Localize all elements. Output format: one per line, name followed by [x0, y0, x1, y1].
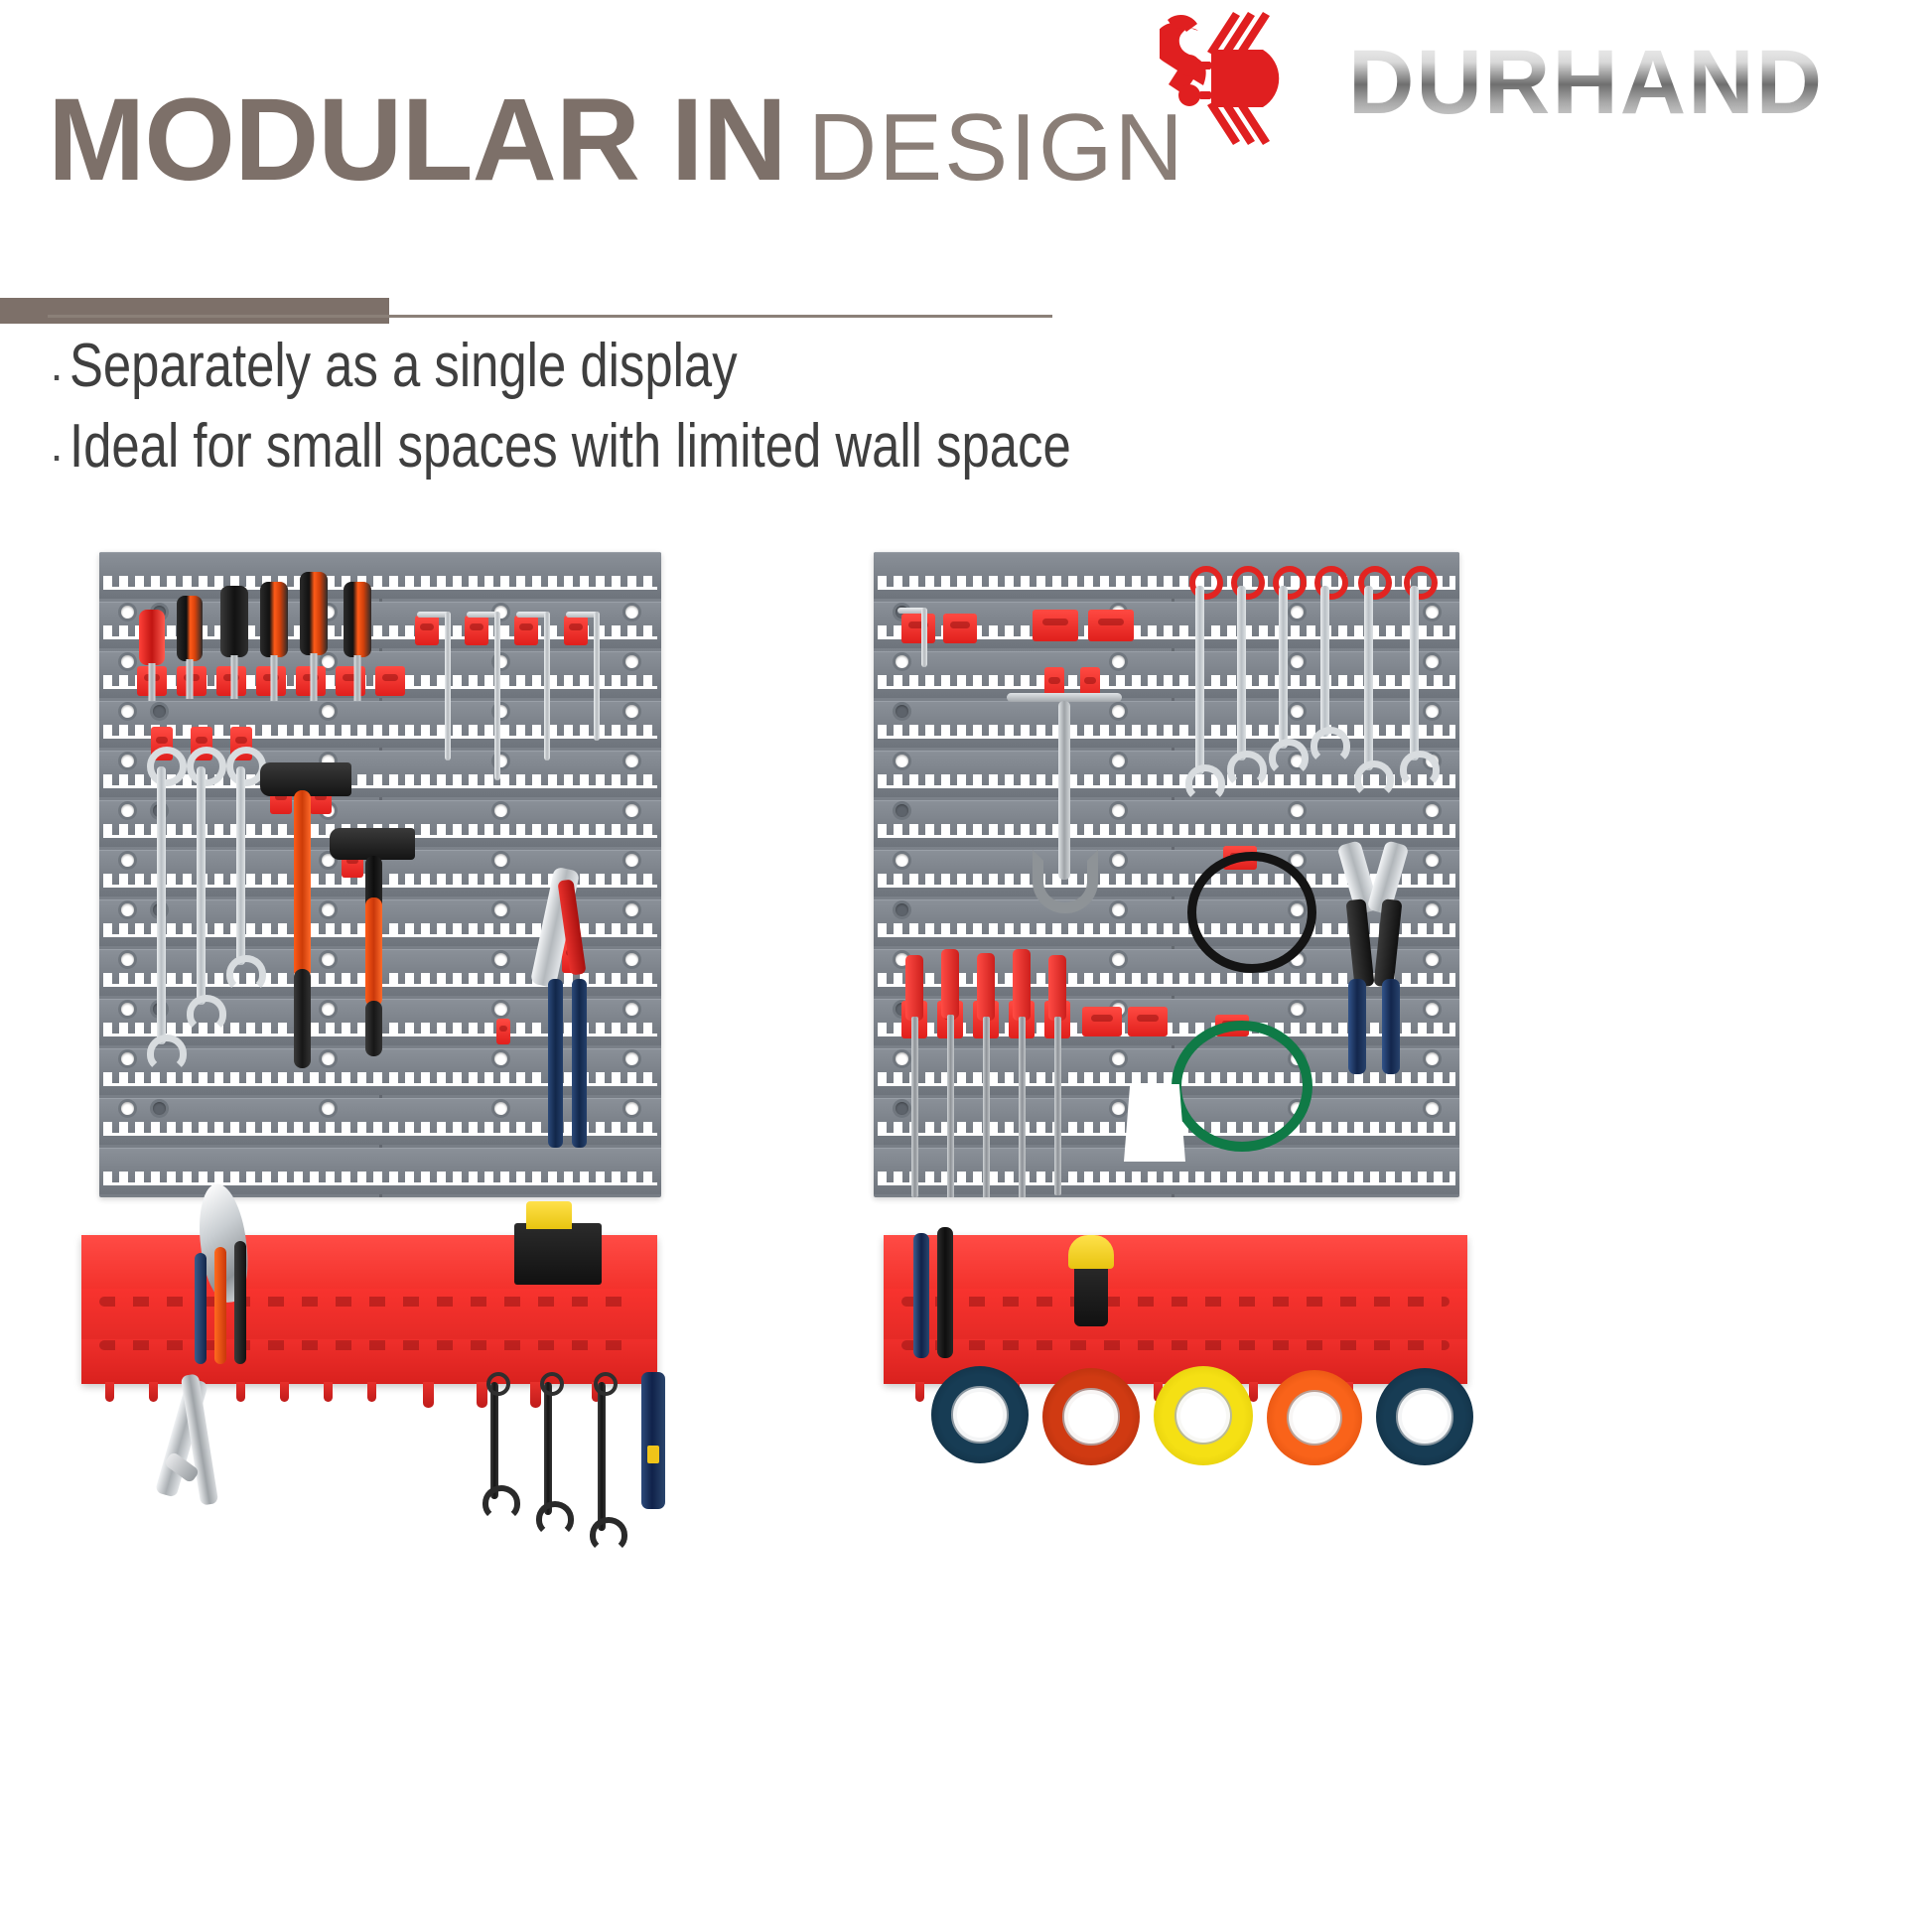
- list-item: · Separately as a single display: [44, 334, 1291, 400]
- shelf-slot-row: [99, 1297, 639, 1307]
- list-item-label: Ideal for small spaces with limited wall…: [69, 414, 1071, 481]
- shelf-slot-row: [901, 1340, 1449, 1350]
- brand-wordmark: DURHAND: [1348, 32, 1824, 133]
- rubber-mallet-body: [514, 1223, 602, 1285]
- promo-banner: MODULAR INDESIGN · Separately as a singl…: [0, 0, 1932, 1932]
- file-handle-4: [1013, 949, 1031, 1021]
- utility-knife-black: [234, 1241, 246, 1364]
- right-pegboard-set: [874, 552, 1469, 1654]
- pegboard-panel-left: [99, 552, 661, 1197]
- rail-row: [874, 800, 1459, 846]
- bullet-marker-icon: ·: [44, 334, 69, 397]
- file-4: [1019, 1017, 1026, 1197]
- tape-roll-orange: [1267, 1370, 1362, 1465]
- tool-clip-wide: [1033, 610, 1078, 641]
- file-1: [911, 1017, 918, 1197]
- shelf-tier-top: [884, 1235, 1467, 1291]
- tool-clip-wide: [1128, 1007, 1168, 1036]
- title-rule-thin: [48, 315, 1052, 318]
- list-item: · Ideal for small spaces with limited wa…: [44, 414, 1291, 481]
- tape-roll-navy-2: [1376, 1368, 1473, 1465]
- putty-knife: [1124, 1084, 1185, 1162]
- tool-clip: [943, 614, 977, 643]
- tool-shelf-right: [884, 1235, 1467, 1384]
- screwdriver-blue-badge: [647, 1446, 659, 1463]
- title-rule: [48, 294, 1052, 320]
- rubber-mallet-yellow-cap: [1068, 1235, 1114, 1269]
- bullet-marker-icon: ·: [44, 414, 69, 478]
- wrench-circuit-icon: [1160, 12, 1279, 145]
- file-handle-3: [977, 953, 995, 1021]
- screwdriver-red: [139, 610, 165, 699]
- file-handle-5: [1048, 955, 1066, 1021]
- screwdriver-orange-4: [344, 582, 371, 701]
- file-3: [983, 1017, 990, 1197]
- green-hose-coil: [1172, 1021, 1312, 1152]
- file-5: [1054, 1017, 1061, 1195]
- page-title: MODULAR INDESIGN: [48, 81, 1185, 199]
- file-handle-1: [905, 955, 923, 1021]
- screwdriver-black: [220, 586, 248, 699]
- utility-knife-orange: [214, 1247, 226, 1364]
- title-bold: MODULAR IN: [48, 74, 786, 206]
- tool-clip: [564, 616, 588, 645]
- file-2: [947, 1015, 954, 1197]
- tool-clip: [496, 1019, 510, 1044]
- screwdriver-blue: [641, 1372, 665, 1509]
- screwdriver-navy-1: [913, 1233, 929, 1358]
- shelf-slot-row: [901, 1297, 1449, 1307]
- feature-list: · Separately as a single display · Ideal…: [44, 334, 1291, 494]
- tool-clip: [465, 616, 488, 645]
- list-item-label: Separately as a single display: [69, 334, 738, 400]
- tool-clip: [514, 616, 538, 645]
- tape-roll-navy-1: [931, 1366, 1029, 1463]
- screwdriver-orange-3: [300, 572, 328, 701]
- tool-clip-wide: [1082, 1007, 1122, 1036]
- durhand-logo-svg: DURHAND: [1160, 10, 1914, 147]
- brand-logo: DURHAND: [1160, 10, 1914, 147]
- rubber-mallet-yellow-cap: [526, 1201, 572, 1229]
- screwdriver-orange-2: [260, 582, 288, 701]
- tool-clip: [901, 614, 935, 643]
- black-cable-coil: [1187, 852, 1316, 973]
- shelf-slot-row: [99, 1340, 639, 1350]
- rubber-mallet-body: [1074, 1261, 1108, 1326]
- file-handle-2: [941, 949, 959, 1019]
- rail-row: [99, 701, 661, 747]
- tool-clip: [375, 666, 405, 696]
- left-pegboard-set: [99, 552, 675, 1654]
- title-light: DESIGN: [808, 94, 1185, 201]
- tool-clip: [415, 616, 439, 645]
- rail-row: [99, 552, 661, 598]
- tape-roll-red: [1042, 1368, 1140, 1465]
- pegboard-panel-right: [874, 552, 1459, 1197]
- tool-clip-wide: [1088, 610, 1134, 641]
- screwdriver-navy-2: [937, 1227, 953, 1358]
- utility-knife-blue: [195, 1253, 207, 1364]
- tape-roll-yellow: [1154, 1366, 1253, 1465]
- screwdriver-orange-1: [177, 596, 203, 699]
- rail-row: [99, 1148, 661, 1193]
